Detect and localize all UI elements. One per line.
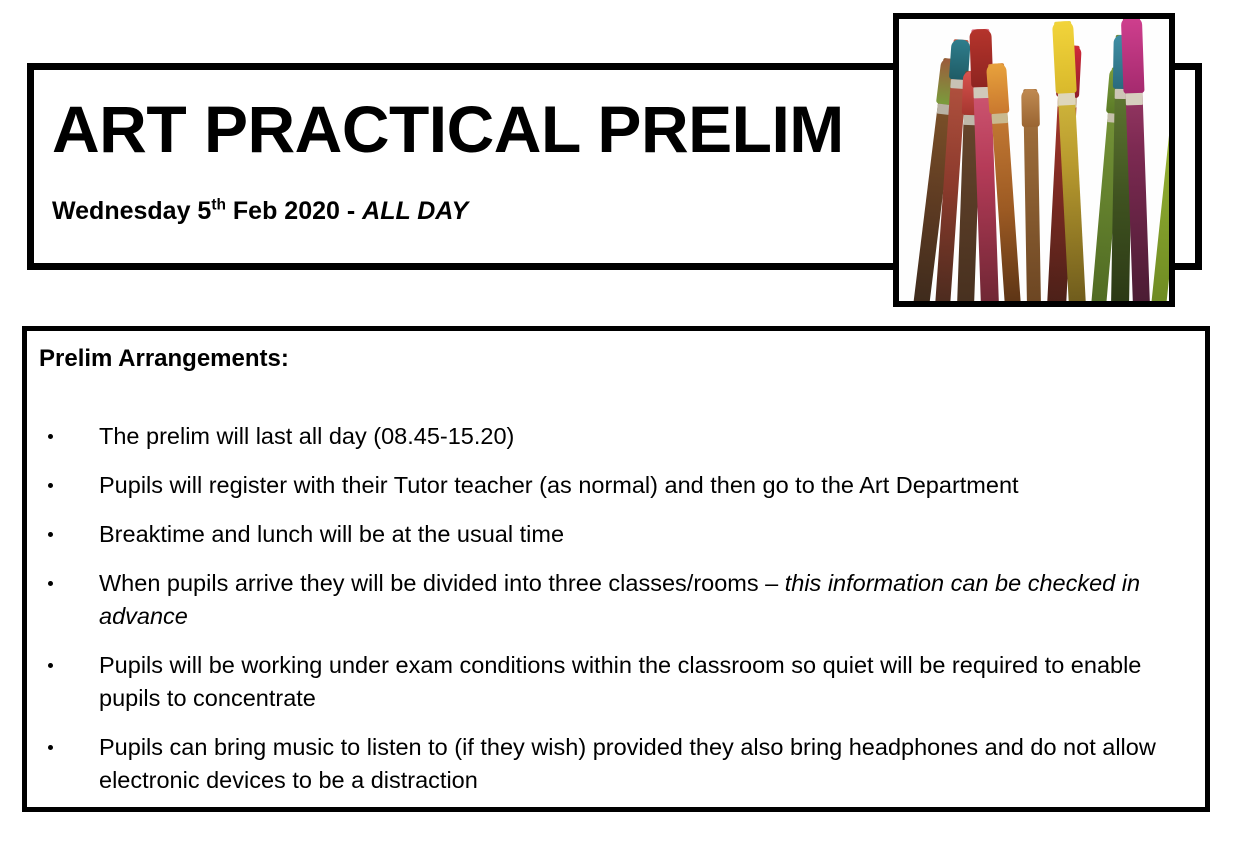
list-item-text: Pupils will register with their Tutor te…: [99, 472, 1019, 498]
text-run: Breaktime and lunch will be at the usual…: [99, 521, 564, 547]
list-item-text: When pupils arrive they will be divided …: [99, 570, 1140, 629]
date-suffix: Feb 2020: [226, 197, 340, 225]
date-prefix: Wednesday 5: [52, 197, 211, 225]
bullet-dot-icon: [48, 581, 53, 586]
list-item-text: The prelim will last all day (08.45-15.2…: [99, 423, 514, 449]
bullet-dot-icon: [48, 434, 53, 439]
section-heading: Prelim Arrangements:: [36, 339, 1191, 374]
all-day-label: ALL DAY: [362, 197, 468, 225]
photo-canvas: [899, 19, 1169, 301]
list-item-text: Breaktime and lunch will be at the usual…: [99, 521, 564, 547]
bullet-dot-icon: [48, 663, 53, 668]
list-item-text: Pupils can bring music to listen to (if …: [99, 734, 1156, 793]
paintbrushes-photo: [893, 13, 1175, 307]
date-dash: -: [340, 197, 362, 225]
arrangements-box: Prelim Arrangements: The prelim will las…: [22, 326, 1210, 812]
brush-tip: [1021, 89, 1040, 127]
brush-tip: [986, 63, 1009, 114]
list-item: When pupils arrive they will be divided …: [36, 567, 1191, 633]
poster-page: ART PRACTICAL PRELIM Wednesday 5th Feb 2…: [0, 0, 1233, 846]
brush-stick: [1151, 62, 1175, 307]
text-run: Pupils can bring music to listen to (if …: [99, 734, 1156, 793]
list-item: The prelim will last all day (08.45-15.2…: [36, 420, 1191, 453]
text-run: When pupils arrive they will be divided …: [99, 570, 785, 596]
date-ordinal-suffix: th: [211, 197, 226, 214]
bullet-dot-icon: [48, 532, 53, 537]
text-run: The prelim will last all day (08.45-15.2…: [99, 423, 514, 449]
brush-ferrule: [1058, 93, 1076, 106]
brush-ferrule: [1126, 93, 1143, 106]
list-item: Pupils can bring music to listen to (if …: [36, 731, 1191, 797]
list-item: Breaktime and lunch will be at the usual…: [36, 518, 1191, 551]
arrangements-list: The prelim will last all day (08.45-15.2…: [36, 374, 1191, 797]
text-run: Pupils will register with their Tutor te…: [99, 472, 1019, 498]
brush-tip: [1121, 17, 1145, 94]
brush-ferrule: [991, 113, 1008, 124]
brush-tip: [1170, 61, 1175, 107]
list-item-text: Pupils will be working under exam condit…: [99, 652, 1141, 711]
list-item: Pupils will be working under exam condit…: [36, 649, 1191, 715]
brush-tip: [1052, 21, 1077, 94]
bullet-dot-icon: [48, 745, 53, 750]
text-run: Pupils will be working under exam condit…: [99, 652, 1141, 711]
arrangements-inner: Prelim Arrangements: The prelim will las…: [36, 339, 1191, 803]
list-item: Pupils will register with their Tutor te…: [36, 469, 1191, 502]
bullet-dot-icon: [48, 483, 53, 488]
brush-stick: [1023, 89, 1041, 307]
